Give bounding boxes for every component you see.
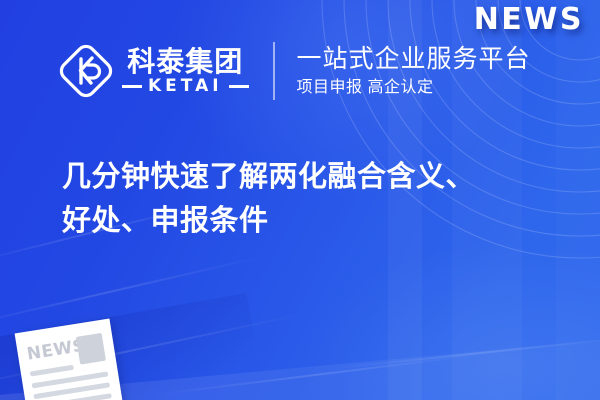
vertical-divider (273, 42, 275, 100)
logo-company-name-en: KETAI (148, 78, 223, 95)
logo-dash-right-icon (229, 85, 249, 88)
headline-line-1: 几分钟快速了解两化融合含义、 (62, 155, 562, 199)
tagline-primary: 一站式企业服务平台 (297, 45, 531, 74)
headline-line-2: 好处、申报条件 (62, 199, 562, 243)
logo-company-name-cn: 科泰集团 (127, 47, 243, 76)
logo-en-row: KETAI (122, 78, 249, 95)
headline: 几分钟快速了解两化融合含义、 好处、申报条件 (62, 155, 562, 243)
news-banner: NEWS 科泰集团 KETAI 一站式企业服务平台 项目申报 高企认定 (0, 0, 600, 400)
ketai-diamond-logo-icon (58, 43, 114, 99)
logo-dash-left-icon (122, 85, 142, 88)
newspaper-icon: NEWS (15, 318, 124, 400)
logo-wordmark: 科泰集团 KETAI (122, 47, 249, 95)
tagline-secondary: 项目申报 高企认定 (297, 78, 531, 97)
news-badge-label: NEWS (474, 2, 584, 37)
diagonal-streak-4 (151, 354, 479, 396)
tagline: 一站式企业服务平台 项目申报 高企认定 (297, 45, 531, 98)
brand-header: 科泰集团 KETAI 一站式企业服务平台 项目申报 高企认定 (58, 42, 531, 100)
diagonal-streak-2 (0, 255, 266, 331)
diagonal-streak-5 (331, 336, 600, 369)
logo[interactable]: 科泰集团 KETAI (58, 43, 249, 99)
